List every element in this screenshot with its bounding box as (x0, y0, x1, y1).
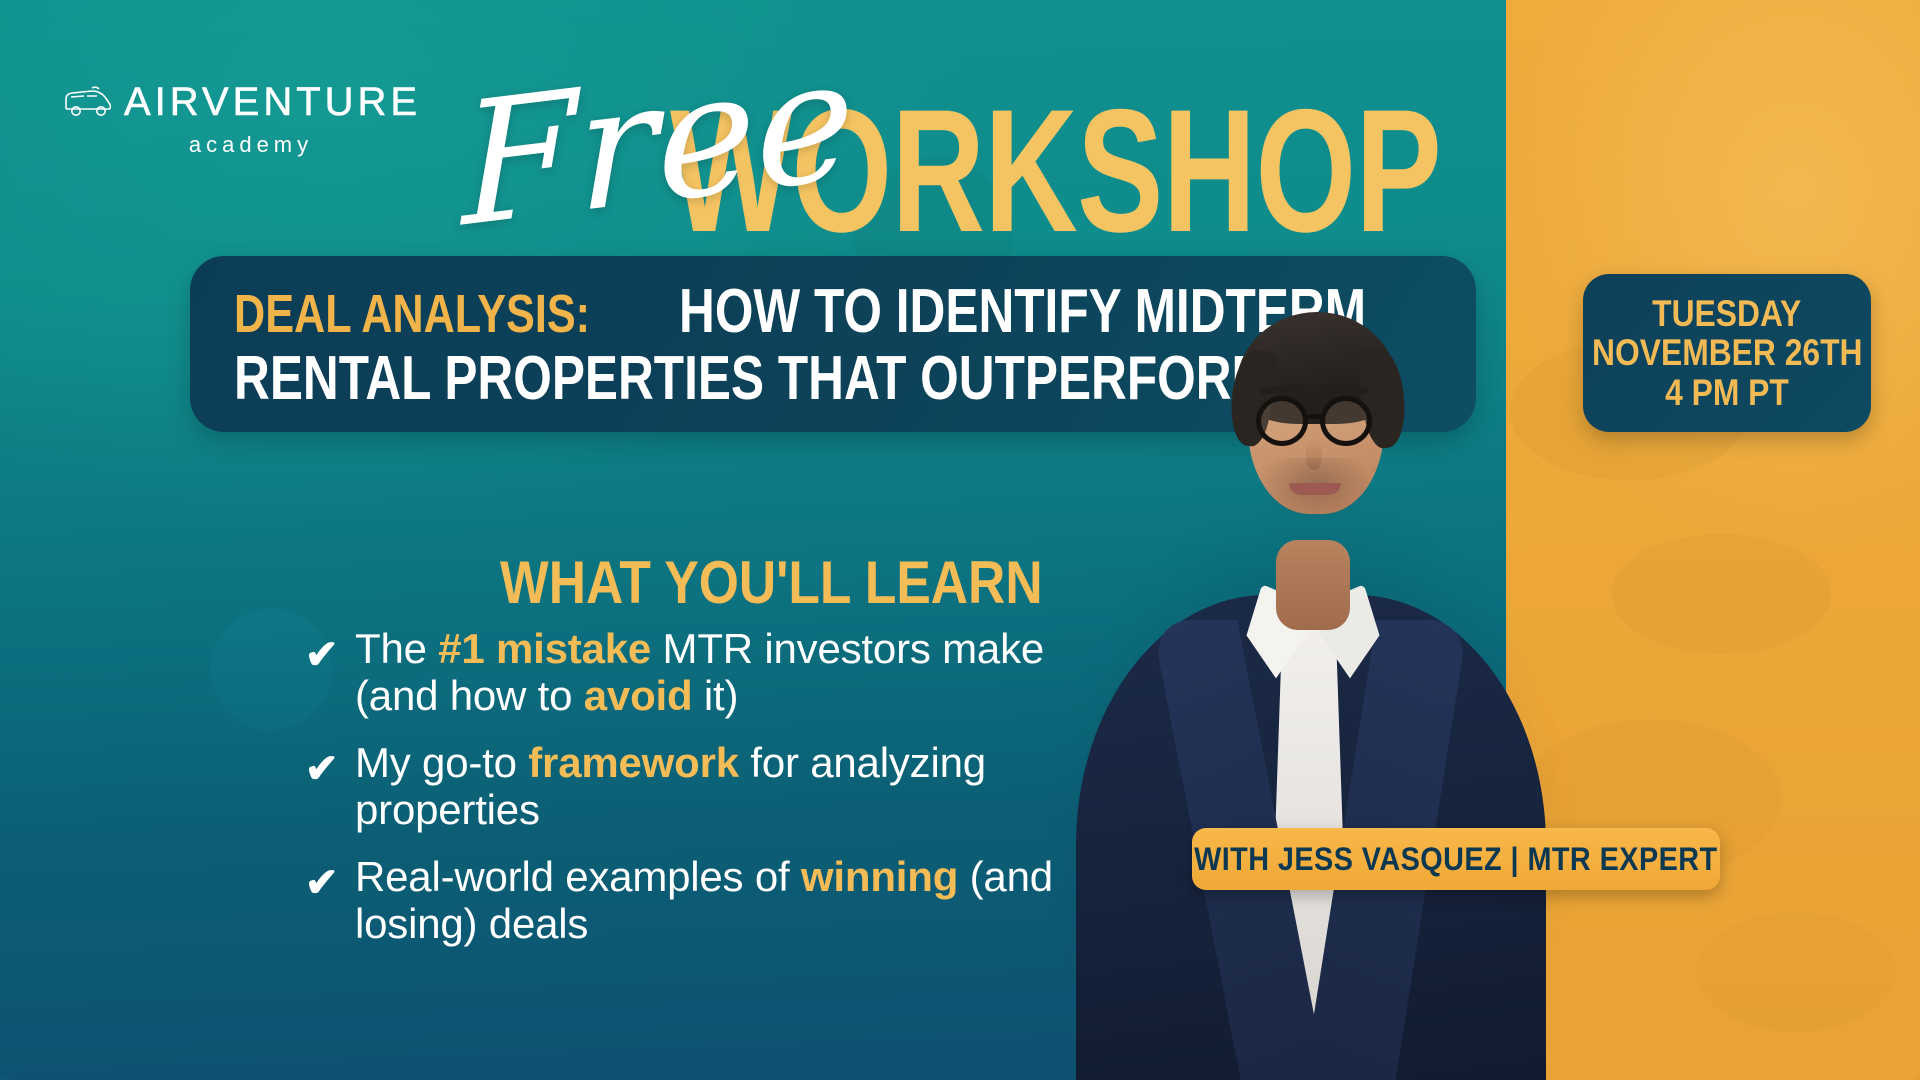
brand-subtitle: academy (62, 132, 392, 158)
date-time: 4 PM PT (1665, 373, 1789, 412)
learn-heading: WHAT YOU'LL LEARN (500, 548, 1043, 617)
date-date: NOVEMBER 26TH (1592, 333, 1863, 372)
speaker-portrait (1020, 200, 1580, 1080)
hero-free-word: Free (460, 33, 856, 250)
brand-logo: AIRVENTURE academy (62, 82, 392, 158)
list-item: ✔ The #1 mistake MTR investors make (and… (305, 625, 1095, 719)
learn-bullet-list: ✔ The #1 mistake MTR investors make (and… (305, 625, 1095, 967)
brand-name: AIRVENTURE (124, 82, 421, 122)
portrait-glasses-right (1320, 396, 1372, 446)
portrait-neck (1276, 540, 1350, 630)
check-icon: ✔ (305, 853, 355, 903)
date-day: TUESDAY (1652, 294, 1801, 333)
list-item: ✔ My go-to framework for analyzing prope… (305, 739, 1095, 833)
check-icon: ✔ (305, 625, 355, 675)
portrait-mouth (1289, 483, 1341, 495)
title-eyebrow: DEAL ANALYSIS: (234, 287, 590, 342)
camper-van-icon (62, 85, 114, 119)
workshop-promo-poster: AIRVENTURE academy WORKSHOP Free DEAL AN… (0, 0, 1920, 1080)
bullet-text-3: Real-world examples of winning (and losi… (355, 853, 1095, 947)
speaker-badge: WITH JESS VASQUEZ | MTR EXPERT (1192, 828, 1720, 890)
check-icon: ✔ (305, 739, 355, 789)
speaker-badge-text: WITH JESS VASQUEZ | MTR EXPERT (1194, 841, 1717, 878)
date-badge: TUESDAY NOVEMBER 26TH 4 PM PT (1583, 274, 1871, 432)
bullet-text-2: My go-to framework for analyzing propert… (355, 739, 1095, 833)
portrait-glasses-bridge (1308, 414, 1322, 419)
bullet-text-1: The #1 mistake MTR investors make (and h… (355, 625, 1095, 719)
list-item: ✔ Real-world examples of winning (and lo… (305, 853, 1095, 947)
portrait-glasses-left (1256, 396, 1308, 446)
